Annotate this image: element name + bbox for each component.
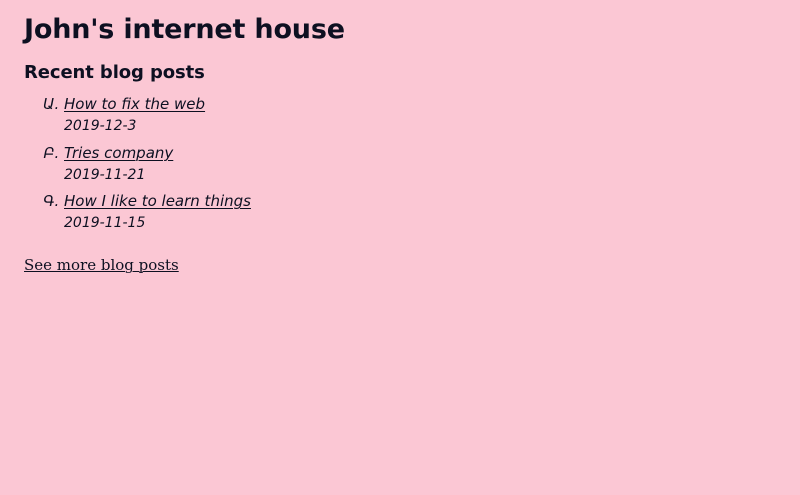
list-item: Tries company 2019-11-21 <box>64 143 776 185</box>
list-item: How I like to learn things 2019-11-15 <box>64 191 776 233</box>
recent-posts-list: How to fix the web 2019-12-3 Tries compa… <box>24 94 776 233</box>
section-heading-recent-blog-posts: Recent blog posts <box>24 62 776 84</box>
post-date: 2019-11-21 <box>64 165 776 185</box>
post-date: 2019-11-15 <box>64 213 776 233</box>
see-more-blog-posts-link[interactable]: See more blog posts <box>24 256 179 274</box>
list-item: How to fix the web 2019-12-3 <box>64 94 776 136</box>
post-title-link[interactable]: How to fix the web <box>64 95 205 113</box>
page-root: John's internet house Recent blog posts … <box>0 0 800 495</box>
page-title: John's internet house <box>24 14 776 46</box>
see-more-wrapper: See more blog posts <box>24 255 776 276</box>
post-date: 2019-12-3 <box>64 116 776 136</box>
post-title-link[interactable]: Tries company <box>64 144 173 162</box>
post-title-link[interactable]: How I like to learn things <box>64 192 251 210</box>
